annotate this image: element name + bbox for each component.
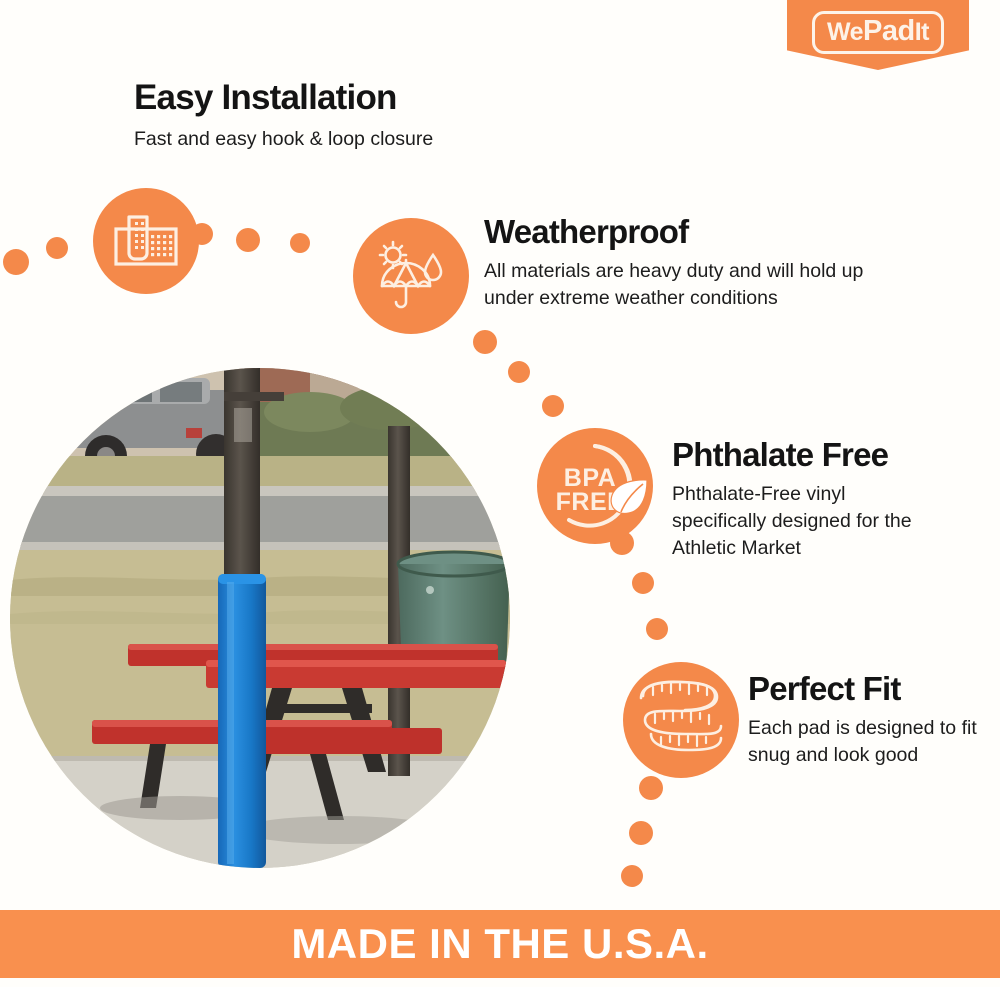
trail-dot: [629, 821, 653, 845]
icon-circle-weatherproof: [353, 218, 469, 334]
feature-title-easy-installation: Easy Installation: [134, 80, 397, 117]
logo-text-we: We: [827, 20, 863, 45]
feature-title-phthalate-free: Phthalate Free: [672, 438, 888, 473]
trail-dot: [639, 776, 663, 800]
feature-description-weatherproof: All materials are heavy duty and will ho…: [484, 258, 904, 312]
logo-text-pad: Pad: [863, 17, 915, 46]
logo-text-it: It: [915, 20, 929, 45]
trail-dot: [632, 572, 654, 594]
measuring-tape-icon: [635, 676, 727, 764]
trail-dot: [542, 395, 564, 417]
trail-dot: [473, 330, 497, 354]
made-in-usa-text: MADE IN THE U.S.A.: [291, 920, 708, 968]
feature-description-phthalate-free: Phthalate-Free vinyl specifically design…: [672, 481, 942, 562]
trail-dot: [290, 233, 310, 253]
icon-circle-phthalate-free: BPA FREE: [537, 428, 653, 544]
feature-title-perfect-fit: Perfect Fit: [748, 672, 901, 707]
infographic-canvas: WePadIt Easy Installation Fast and easy …: [0, 0, 1000, 987]
hook-and-loop-patch-icon: [113, 213, 179, 269]
icon-circle-perfect-fit: [623, 662, 739, 778]
icon-circle-easy-installation: [93, 188, 199, 294]
product-photo-pole-pad: [10, 368, 510, 868]
brand-logo-plate: WePadIt: [812, 11, 944, 54]
brand-logo-banner: WePadIt: [787, 0, 969, 70]
trail-dot: [646, 618, 668, 640]
feature-description-easy-installation: Fast and easy hook & loop closure: [134, 126, 433, 153]
made-in-usa-banner: MADE IN THE U.S.A.: [0, 910, 1000, 978]
trail-dot: [46, 237, 68, 259]
bpa-free-leaf-icon: BPA FREE: [543, 434, 647, 538]
trail-dot: [3, 249, 29, 275]
feature-description-perfect-fit: Each pad is designed to fit snug and loo…: [748, 715, 978, 769]
trail-dot: [508, 361, 530, 383]
trail-dot: [621, 865, 643, 887]
trail-dot: [236, 228, 260, 252]
feature-title-weatherproof: Weatherproof: [484, 215, 688, 250]
sun-umbrella-raindrop-icon: [373, 239, 449, 313]
